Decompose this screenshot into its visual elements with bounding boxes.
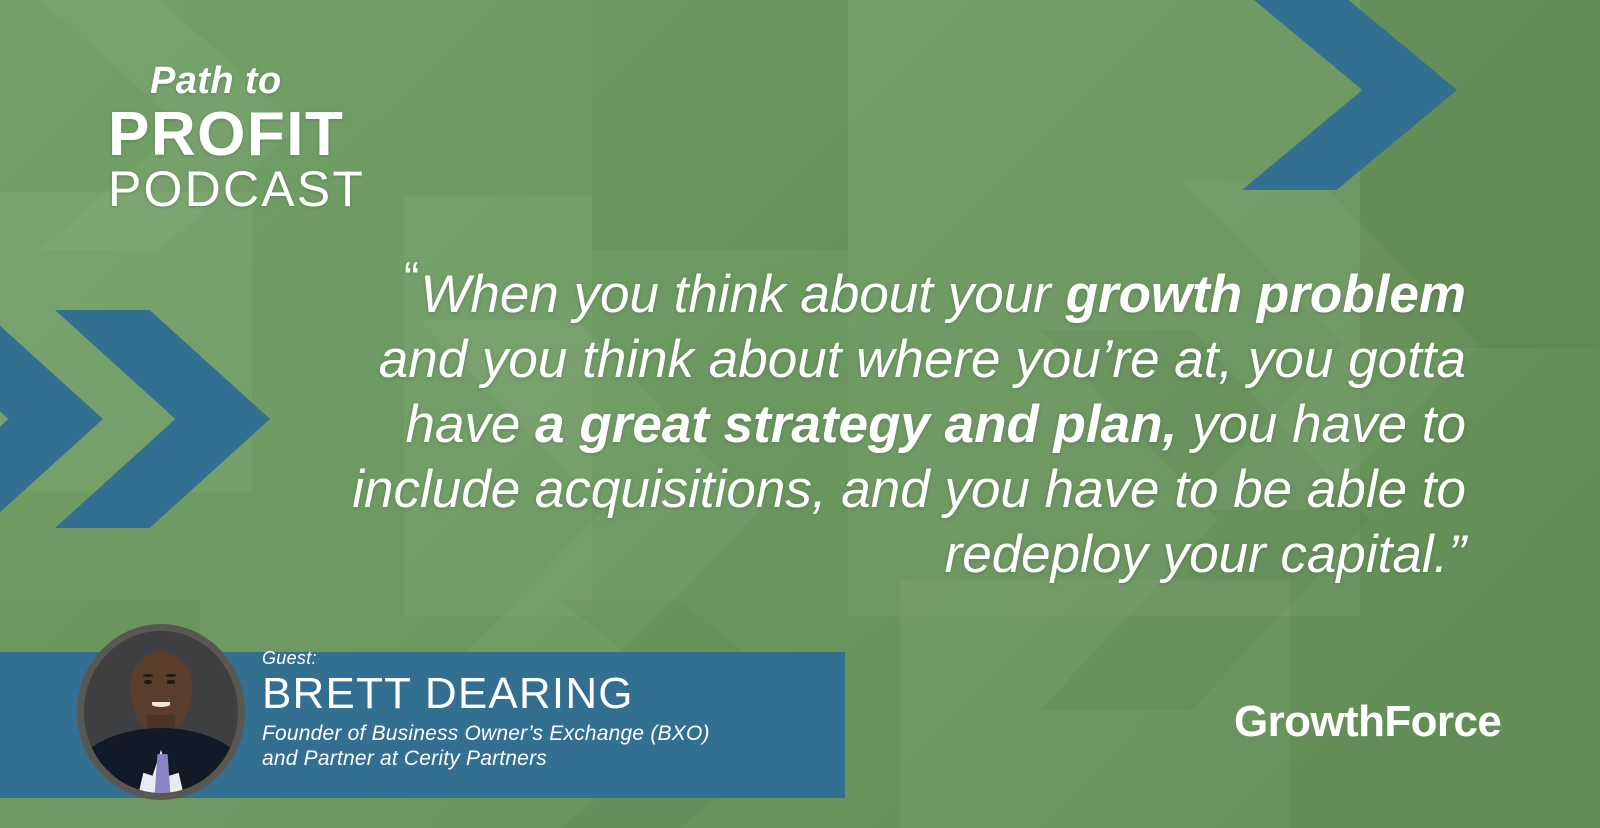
guest-role-line1: Founder of Business Owner’s Exchange (BX… <box>262 721 822 746</box>
guest-label: Guest: <box>262 648 822 669</box>
slide-canvas: Path to PROFIT PODCAST “When you think a… <box>0 0 1600 828</box>
quote-open-mark: “ <box>404 252 420 304</box>
guest-details: Guest: BRETT DEARING Founder of Business… <box>262 648 822 771</box>
podcast-logo: Path to PROFIT PODCAST <box>108 62 538 216</box>
growthforce-logo: GrowthForce <box>1234 700 1501 744</box>
quote-segment-1: When you think about your <box>420 265 1065 324</box>
quote-segment-4-bold: a great strategy and plan, <box>535 395 1177 454</box>
guest-role-line2: and Partner at Cerity Partners <box>262 746 822 771</box>
pull-quote: “When you think about your growth proble… <box>336 246 1466 587</box>
watermark-rect <box>592 0 848 250</box>
logo-line-path-to: Path to <box>108 62 538 100</box>
avatar <box>77 624 245 800</box>
logo-line-podcast: PODCAST <box>108 163 538 216</box>
logo-line-profit: PROFIT <box>108 102 538 167</box>
watermark-rect <box>900 580 1020 828</box>
quote-segment-2-bold: growth problem <box>1066 265 1466 324</box>
chevron-left-back <box>0 310 103 528</box>
guest-name: BRETT DEARING <box>262 671 822 718</box>
guest-photo <box>84 631 238 793</box>
chevron-top-right <box>1242 0 1457 190</box>
